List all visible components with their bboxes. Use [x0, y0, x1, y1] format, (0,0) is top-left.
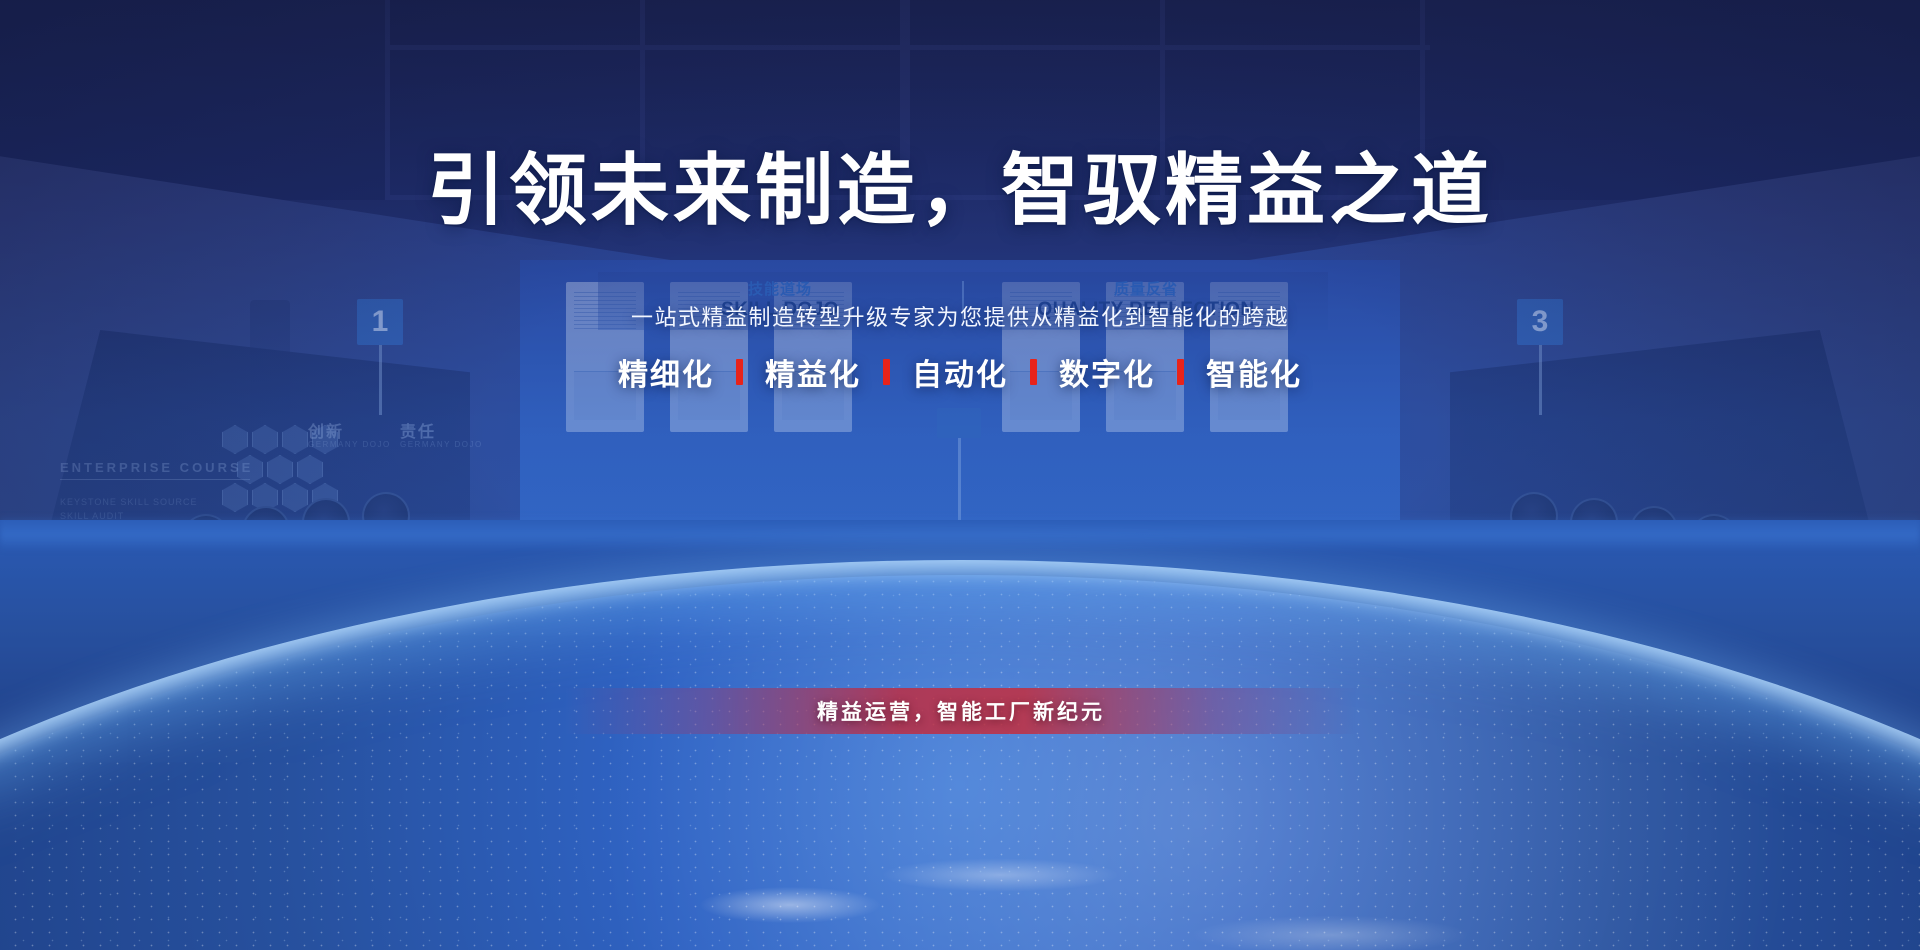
keyword-separator-icon [1177, 359, 1184, 385]
keyword-separator-icon [883, 359, 890, 385]
hero-content: 引领未来制造，智驭精益之道 一站式精益制造转型升级专家为您提供从精益化到智能化的… [0, 0, 1920, 950]
tagline-ribbon: 精益运营，智能工厂新纪元 [566, 688, 1356, 734]
keyword-separator-icon [1030, 359, 1037, 385]
tagline-text: 精益运营，智能工厂新纪元 [817, 696, 1105, 726]
hero-subtitle: 一站式精益制造转型升级专家为您提供从精益化到智能化的跨越 [0, 300, 1920, 332]
keyword-item: 自动化 [890, 350, 1030, 394]
keyword-list: 精细化 精益化 自动化 数字化 智能化 [0, 350, 1920, 394]
page-title: 引领未来制造，智驭精益之道 [0, 128, 1920, 240]
keyword-item: 数字化 [1037, 350, 1177, 394]
hero-banner: ENTERPRISE COURSE KEYSTONE SKILL SOURCE … [0, 0, 1920, 950]
keyword-item: 精益化 [743, 350, 883, 394]
keyword-item: 精细化 [596, 350, 736, 394]
keyword-separator-icon [736, 359, 743, 385]
keyword-item: 智能化 [1184, 350, 1324, 394]
